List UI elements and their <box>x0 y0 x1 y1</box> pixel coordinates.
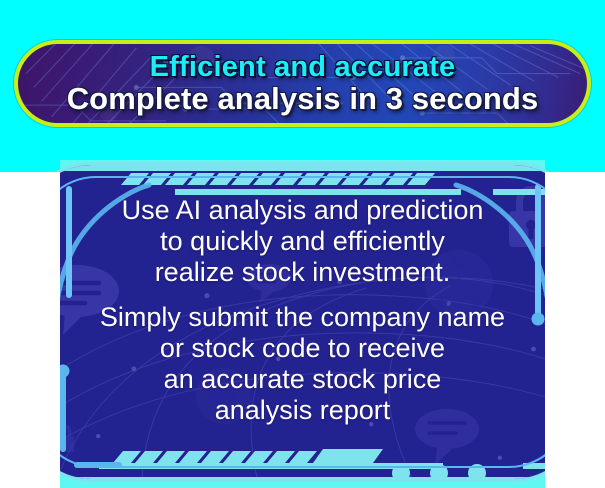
paragraph-2-line-1: Simply submit the company name <box>23 302 582 333</box>
paragraph-1: Use AI analysis and prediction to quickl… <box>23 195 582 288</box>
paragraph-2-line-4: analysis report <box>23 395 582 426</box>
paragraph-2-line-2: or stock code to receive <box>23 333 582 364</box>
headline-line-2: Complete analysis in 3 seconds <box>67 83 539 114</box>
promo-card: Efficient and accurate Complete analysis… <box>0 0 605 488</box>
paragraph-1-line-2: to quickly and efficiently <box>23 226 582 257</box>
headline-banner: Efficient and accurate Complete analysis… <box>14 40 591 127</box>
headline-text-block: Efficient and accurate Complete analysis… <box>18 44 587 123</box>
headline-line-1: Efficient and accurate <box>150 53 456 82</box>
content-panel: Use AI analysis and prediction to quickl… <box>20 162 585 482</box>
paragraph-2: Simply submit the company name or stock … <box>23 302 582 426</box>
right-white-margin <box>545 172 605 488</box>
body-copy: Use AI analysis and prediction to quickl… <box>23 195 582 426</box>
paragraph-1-line-3: realize stock investment. <box>23 257 582 288</box>
left-white-margin <box>0 172 60 488</box>
paragraph-2-line-3: an accurate stock price <box>23 364 582 395</box>
paragraph-1-line-1: Use AI analysis and prediction <box>23 195 582 226</box>
